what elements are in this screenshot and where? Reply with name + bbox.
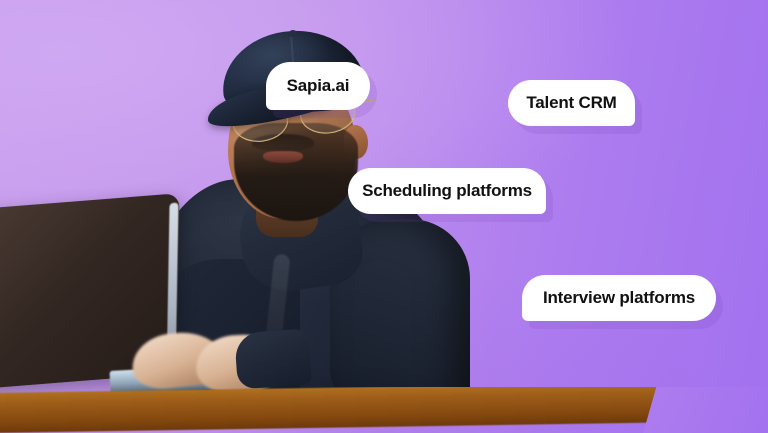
pill-scheduling-platforms[interactable]: Scheduling platforms (348, 168, 546, 214)
pill-scheduling-platforms-label: Scheduling platforms (362, 181, 532, 201)
pill-talent-crm-label: Talent CRM (526, 93, 616, 113)
pill-interview-platforms[interactable]: Interview platforms (522, 275, 716, 321)
jacket-cuff (234, 328, 312, 389)
pill-sapia[interactable]: Sapia.ai (266, 62, 370, 110)
baseball-cap-button (289, 30, 297, 37)
pill-talent-crm[interactable]: Talent CRM (508, 80, 635, 126)
pill-interview-platforms-label: Interview platforms (543, 288, 695, 308)
pill-sapia-label: Sapia.ai (287, 76, 350, 96)
lips (263, 151, 303, 163)
hero-graphic: Sapia.ai Talent CRM Scheduling platforms… (0, 0, 768, 433)
